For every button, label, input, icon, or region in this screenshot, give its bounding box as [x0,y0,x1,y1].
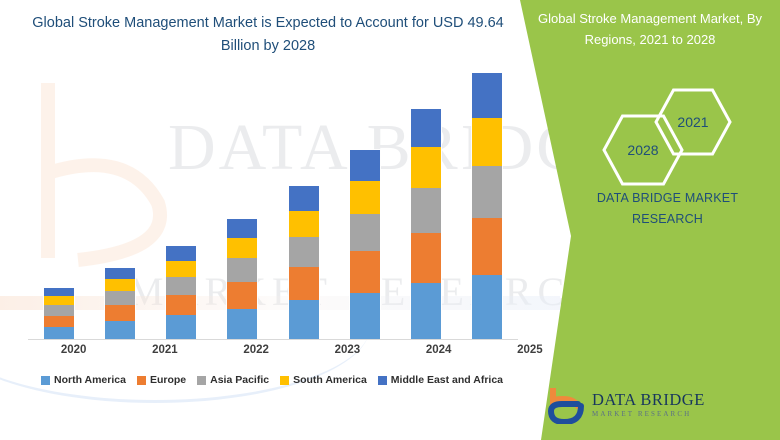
stacked-bar[interactable] [166,246,196,339]
stacked-bar[interactable] [472,73,502,339]
x-axis-label: 2025 [484,344,575,356]
legend-label: South America [293,374,367,386]
bar-segment [472,73,502,118]
legend-label: Asia Pacific [210,374,269,386]
bar-segment [44,327,74,339]
x-axis-labels: 20202021202220232024202520262027 [28,344,758,356]
hexagon-2021-label: 2021 [677,114,708,130]
bar-segment [411,233,441,283]
bar-segment [227,309,257,339]
bar-segment [105,291,135,305]
bar-segment [411,188,441,233]
bar-segment [289,186,319,211]
legend-label: North America [54,374,126,386]
chart-plot-area [0,60,540,340]
bar-segment [227,282,257,309]
bar-segment [227,219,257,238]
bar-segment [166,315,196,339]
hexagon-2021: 2021 [654,88,732,156]
bar-segment [411,147,441,188]
bar-slot [28,60,89,339]
bar-group [28,60,518,339]
stacked-bar[interactable] [44,288,74,339]
bar-segment [472,118,502,166]
x-axis-label: 2020 [28,344,119,356]
bar-segment [227,258,257,282]
x-axis-label: 2021 [119,344,210,356]
bar-segment [44,316,74,327]
legend-swatch [197,376,206,385]
x-axis-label: 2022 [211,344,302,356]
footer-logo: DATA BRIDGE MARKET RESEARCH [548,382,758,428]
bar-segment [289,267,319,301]
footer-logo-sub: MARKET RESEARCH [592,411,705,418]
bar-segment [105,305,135,321]
legend-item[interactable]: Europe [137,374,186,386]
x-axis-label: 2023 [302,344,393,356]
bar-segment [350,181,380,214]
bar-segment [289,300,319,339]
legend-swatch [137,376,146,385]
legend-item[interactable]: Middle East and Africa [378,374,503,386]
bar-segment [44,296,74,305]
bar-segment [105,321,135,339]
stacked-bar[interactable] [411,109,441,339]
legend-item[interactable]: South America [280,374,367,386]
bar-slot [273,60,334,339]
footer-logo-main: DATA BRIDGE [592,392,705,409]
page-title: Global Stroke Management Market is Expec… [28,12,508,58]
legend-swatch [378,376,387,385]
bar-segment [350,150,380,181]
bar-segment [472,275,502,339]
stacked-bar[interactable] [350,150,380,339]
bar-segment [105,279,135,291]
hexagon-group: 2028 2021 [592,88,752,183]
bar-segment [289,237,319,267]
bar-slot [396,60,457,339]
legend-item[interactable]: Asia Pacific [197,374,269,386]
legend-swatch [41,376,50,385]
bar-slot [334,60,395,339]
chart-legend: North AmericaEuropeAsia PacificSouth Ame… [22,374,522,386]
infographic-canvas: DATA BRIDGE MARKET RESEARCH Global Strok… [0,0,780,440]
bar-segment [472,218,502,275]
panel-title: Global Stroke Management Market, By Regi… [530,8,770,50]
bar-segment [166,261,196,277]
x-axis-label: 2026 [576,344,667,356]
bar-segment [166,246,196,261]
x-axis-label: 2024 [393,344,484,356]
bar-slot [212,60,273,339]
bar-slot [89,60,150,339]
bar-slot [151,60,212,339]
panel-brand-text: DATA BRIDGE MARKET RESEARCH [560,188,775,230]
bar-segment [350,293,380,339]
bar-segment [166,295,196,316]
bar-segment [411,109,441,147]
stacked-bar[interactable] [227,219,257,339]
x-axis-label: 2027 [667,344,758,356]
legend-label: Middle East and Africa [391,374,503,386]
bar-segment [350,214,380,250]
stacked-bar[interactable] [289,186,319,339]
bar-segment [105,268,135,279]
x-axis-line [28,339,518,340]
bar-segment [227,238,257,259]
bar-segment [166,277,196,295]
bar-segment [350,251,380,293]
bar-segment [411,283,441,339]
bar-segment [289,211,319,237]
footer-logo-text: DATA BRIDGE MARKET RESEARCH [592,392,705,419]
bar-segment [472,166,502,218]
legend-item[interactable]: North America [41,374,126,386]
bar-slot [457,60,518,339]
stacked-bar[interactable] [105,268,135,339]
legend-label: Europe [150,374,186,386]
b-logo-icon [548,386,584,424]
bar-segment [44,288,74,296]
legend-swatch [280,376,289,385]
bar-segment [44,305,74,315]
